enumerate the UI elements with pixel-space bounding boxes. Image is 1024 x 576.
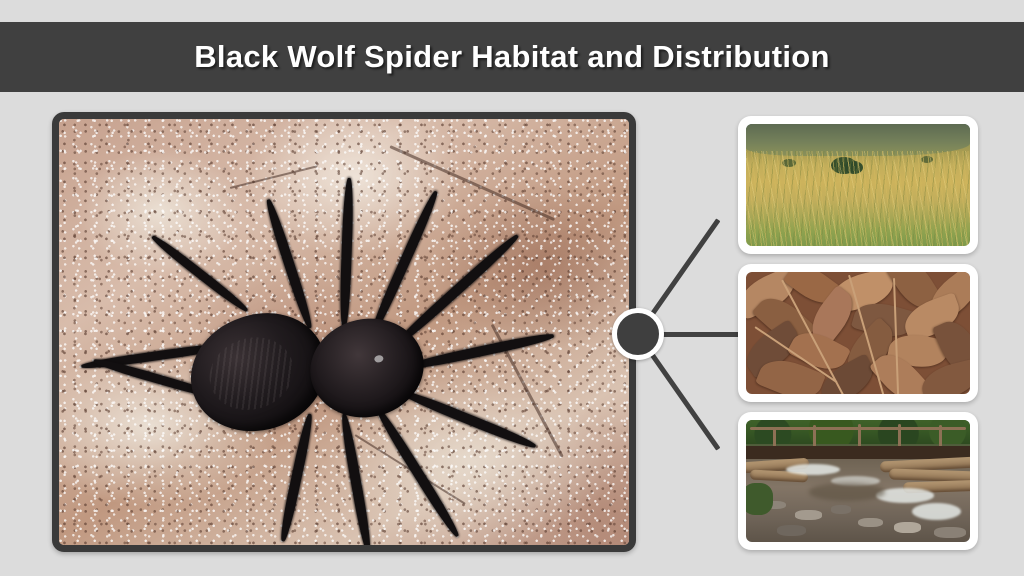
- habitat-leaf-litter-image: [746, 272, 970, 394]
- spider-body: [59, 119, 629, 545]
- spider-leg: [150, 234, 250, 315]
- leaf-litter-scene: [746, 272, 970, 394]
- main-photo-frame[interactable]: [52, 112, 636, 552]
- bridge-post: [939, 425, 942, 447]
- vegetation-icon: [746, 483, 773, 515]
- spider-leg: [374, 407, 462, 540]
- slide-stage: Black Wolf Spider Habitat and Distributi…: [0, 0, 1024, 576]
- habitat-stream[interactable]: [738, 412, 978, 550]
- bridge-post: [858, 424, 861, 447]
- grass-texture: [746, 151, 970, 246]
- rock-icon: [831, 505, 851, 514]
- stream-scene: [746, 420, 970, 542]
- rock-icon: [777, 525, 806, 536]
- water-rapid: [912, 503, 961, 520]
- habitat-hub-node[interactable]: [612, 308, 664, 360]
- bridge-post: [773, 427, 776, 447]
- spider-leg: [399, 388, 537, 452]
- habitat-leaf-litter[interactable]: [738, 264, 978, 402]
- title-banner: Black Wolf Spider Habitat and Distributi…: [0, 22, 1024, 92]
- spider-leg: [263, 199, 314, 330]
- bridge-deck: [746, 446, 970, 459]
- bridge-post: [898, 424, 901, 447]
- black-wolf-spider-on-rock: [59, 119, 629, 545]
- habitat-grassland[interactable]: [738, 116, 978, 254]
- bridge-post: [813, 425, 816, 447]
- habitat-grassland-image: [746, 124, 970, 246]
- rock-icon: [858, 518, 883, 528]
- grassland-scene: [746, 124, 970, 246]
- rock-icon: [795, 510, 822, 520]
- rock-icon: [934, 527, 965, 538]
- water-rapid: [786, 464, 840, 475]
- rock-icon: [894, 522, 921, 533]
- page-title: Black Wolf Spider Habitat and Distributi…: [194, 39, 830, 75]
- habitat-stream-image: [746, 420, 970, 542]
- water-pool: [809, 483, 885, 500]
- spider-leg: [278, 413, 315, 542]
- spider-leg: [339, 178, 354, 328]
- spider-leg: [406, 331, 555, 372]
- spider-leg: [339, 413, 373, 545]
